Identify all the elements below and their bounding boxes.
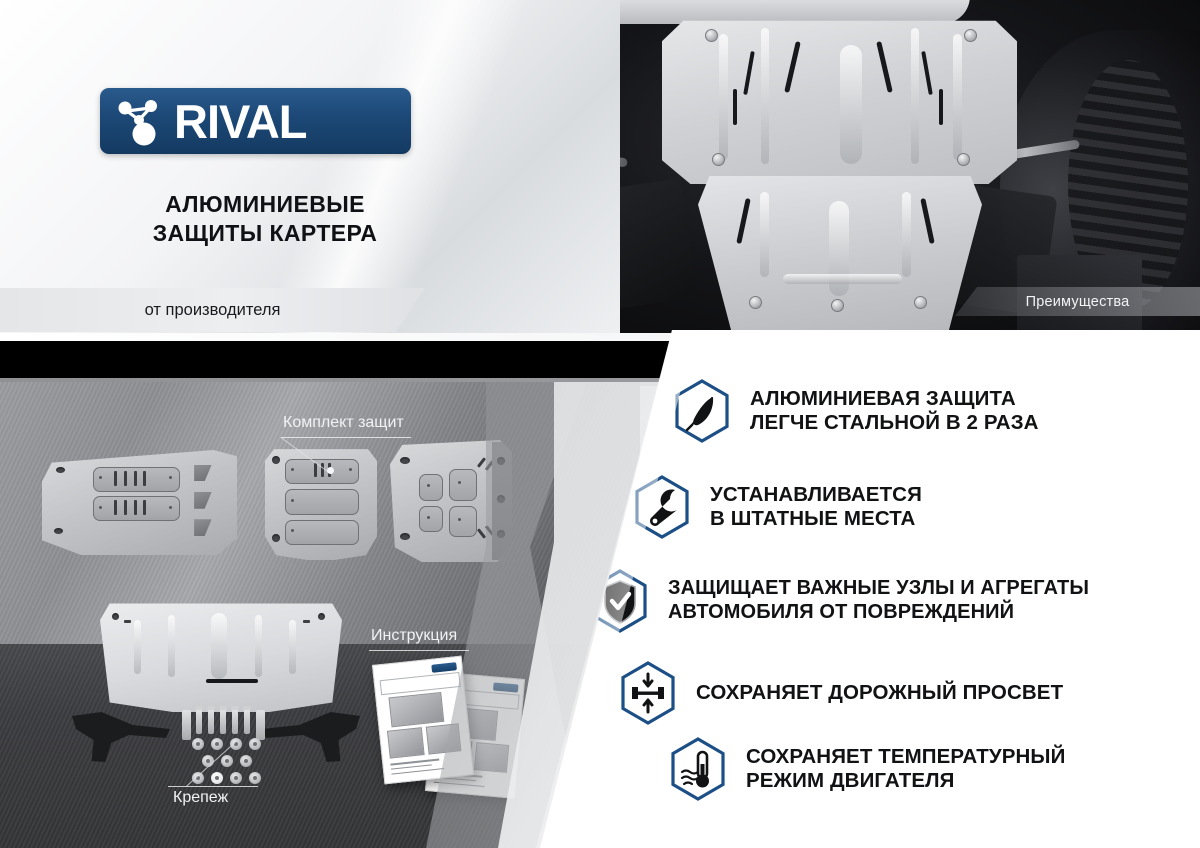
rival-wordmark: RIVAL [174, 98, 307, 145]
callout-kit-dot [327, 467, 334, 474]
benefit-text-clearance: СОХРАНЯЕТ ДОРОЖНЫЙ ПРОСВЕТ [696, 681, 1063, 705]
callout-hardware-label: Крепеж [173, 789, 228, 807]
hero-skid-plate-upper [662, 14, 1017, 184]
subtitle-bar: от производителя [0, 288, 425, 332]
benefit-text-temperature: СОХРАНЯЕТ ТЕМПЕРАТУРНЫЙ РЕЖИМ ДВИГАТЕЛЯ [746, 745, 1065, 793]
skid-plate-left [42, 450, 237, 555]
benefit-text-install: УСТАНАВЛИВАЕТСЯ В ШТАТНЫЕ МЕСТА [710, 483, 922, 531]
benefit-item-temperature: СОХРАНЯЕТ ТЕМПЕРАТУРНЫЙ РЕЖИМ ДВИГАТЕЛЯ [668, 736, 1065, 802]
clearance-icon [618, 660, 678, 726]
skid-plate-bottom [100, 594, 342, 712]
advantages-tab: Преимущества [955, 287, 1200, 316]
benefit-text-protect: ЗАЩИЩАЕТ ВАЖНЫЕ УЗЛЫ И АГРЕГАТЫ АВТОМОБИ… [668, 577, 1089, 624]
benefit-item-install: УСТАНАВЛИВАЕТСЯ В ШТАТНЫЕ МЕСТА [632, 474, 922, 540]
callout-kit-rule [281, 437, 411, 438]
benefit-item-weight: АЛЮМИНИЕВАЯ ЗАЩИТА ЛЕГЧЕ СТАЛЬНОЙ В 2 РА… [672, 378, 1039, 444]
thermometer-icon [668, 736, 728, 802]
benefit-text-weight: АЛЮМИНИЕВАЯ ЗАЩИТА ЛЕГЧЕ СТАЛЬНОЙ В 2 РА… [750, 387, 1039, 435]
molecule-icon [114, 95, 176, 147]
poster-canvas: Преимущества RIVAL АЛЮМИНИЕВЫЕ ЗАЩИТЫ КА… [0, 0, 1200, 848]
subtitle-text: от производителя [145, 301, 281, 320]
callout-instruction-label: Инструкция [371, 627, 457, 645]
callout-instruction-rule [369, 650, 469, 651]
advantages-tab-label: Преимущества [1026, 294, 1130, 310]
benefit-item-clearance: СОХРАНЯЕТ ДОРОЖНЫЙ ПРОСВЕТ [618, 660, 1063, 726]
page-title: АЛЮМИНИЕВЫЕ ЗАЩИТЫ КАРТЕРА [100, 190, 430, 249]
benefit-item-protect: ЗАЩИЩАЕТ ВАЖНЫЕ УЗЛЫ И АГРЕГАТЫ АВТОМОБИ… [590, 568, 1089, 634]
skid-plate-center [265, 442, 377, 560]
callout-hardware-rule [168, 786, 258, 787]
rival-logo: RIVAL [100, 88, 411, 154]
hero-skid-plate-lower [698, 176, 982, 334]
callout-kit-label: Комплект защит [283, 414, 404, 432]
